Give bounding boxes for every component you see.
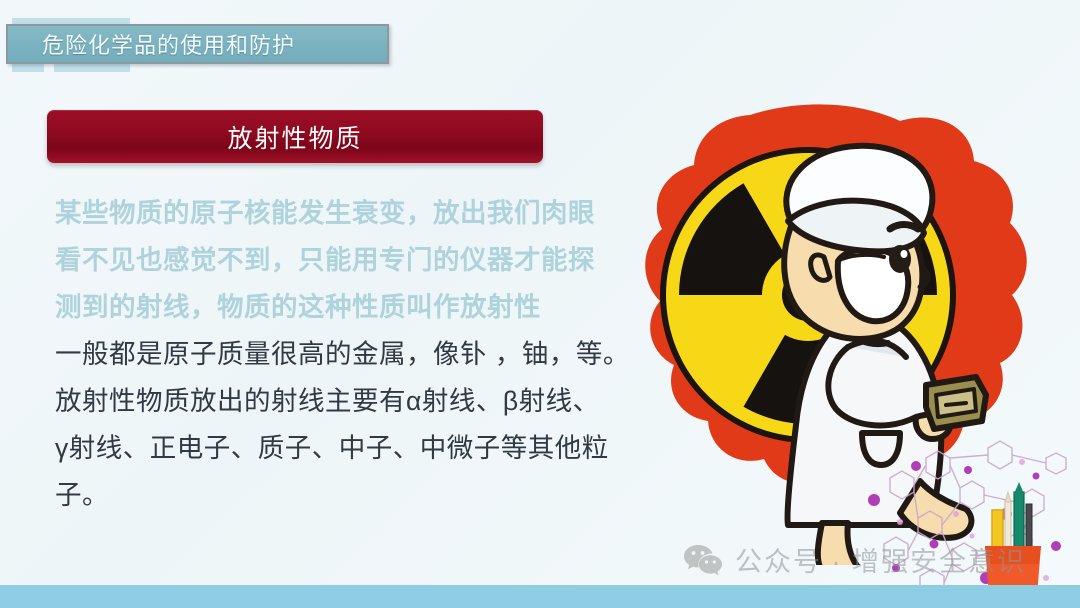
body-line: 看不见也感觉不到，只能用专门的仪器才能探 bbox=[55, 237, 630, 284]
slide-canvas: 危险化学品的使用和防护 放射性物质 某些物质的原子核能发生衰变，放出我们肉眼 看… bbox=[0, 0, 1080, 608]
page-title: 危险化学品的使用和防护 bbox=[42, 28, 295, 60]
radiation-worker-illustration bbox=[600, 95, 1070, 565]
body-line: 子。 bbox=[55, 472, 630, 519]
body-line: 测到的射线，物质的这种性质叫作放射性 bbox=[55, 284, 630, 331]
header-banner: 危险化学品的使用和防护 bbox=[6, 24, 389, 64]
body-line: 放射性物质放出的射线主要有α射线、β射线、 bbox=[55, 378, 630, 425]
wechat-icon bbox=[683, 543, 723, 577]
section-title-text: 放射性物质 bbox=[227, 119, 362, 155]
body-line: 一般都是原子质量很高的金属，像钋 ，铀，等。 bbox=[55, 331, 630, 378]
watermark-text: 公众号 · 增强安全意识 bbox=[735, 540, 1026, 579]
bottom-blue-bar bbox=[0, 585, 1080, 608]
body-line: 某些物质的原子核能发生衰变，放出我们肉眼 bbox=[55, 190, 630, 237]
body-text-block: 某些物质的原子核能发生衰变，放出我们肉眼 看不见也感觉不到，只能用专门的仪器才能… bbox=[55, 190, 630, 519]
handheld-geiger-counter bbox=[926, 377, 986, 429]
body-line: γ射线、正电子、质子、中子、中微子等其他粒 bbox=[55, 425, 630, 472]
section-title-pill: 放射性物质 bbox=[47, 110, 543, 163]
watermark: 公众号 · 增强安全意识 bbox=[683, 540, 1026, 579]
